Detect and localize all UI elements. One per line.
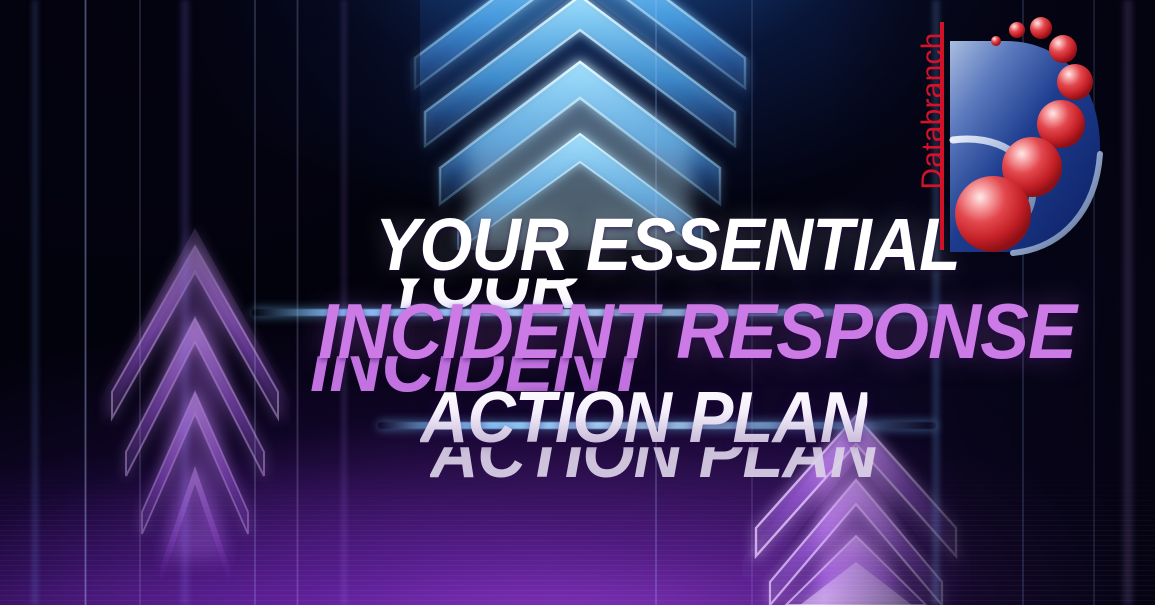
logo-mark-icon — [893, 4, 1108, 256]
floor-reflection — [0, 470, 1155, 605]
hero-banner: YOUR YOUR ESSENTIAL INCIDENT INCIDENT RE… — [0, 0, 1155, 605]
databranch-logo[interactable]: Databranch — [893, 4, 1108, 256]
